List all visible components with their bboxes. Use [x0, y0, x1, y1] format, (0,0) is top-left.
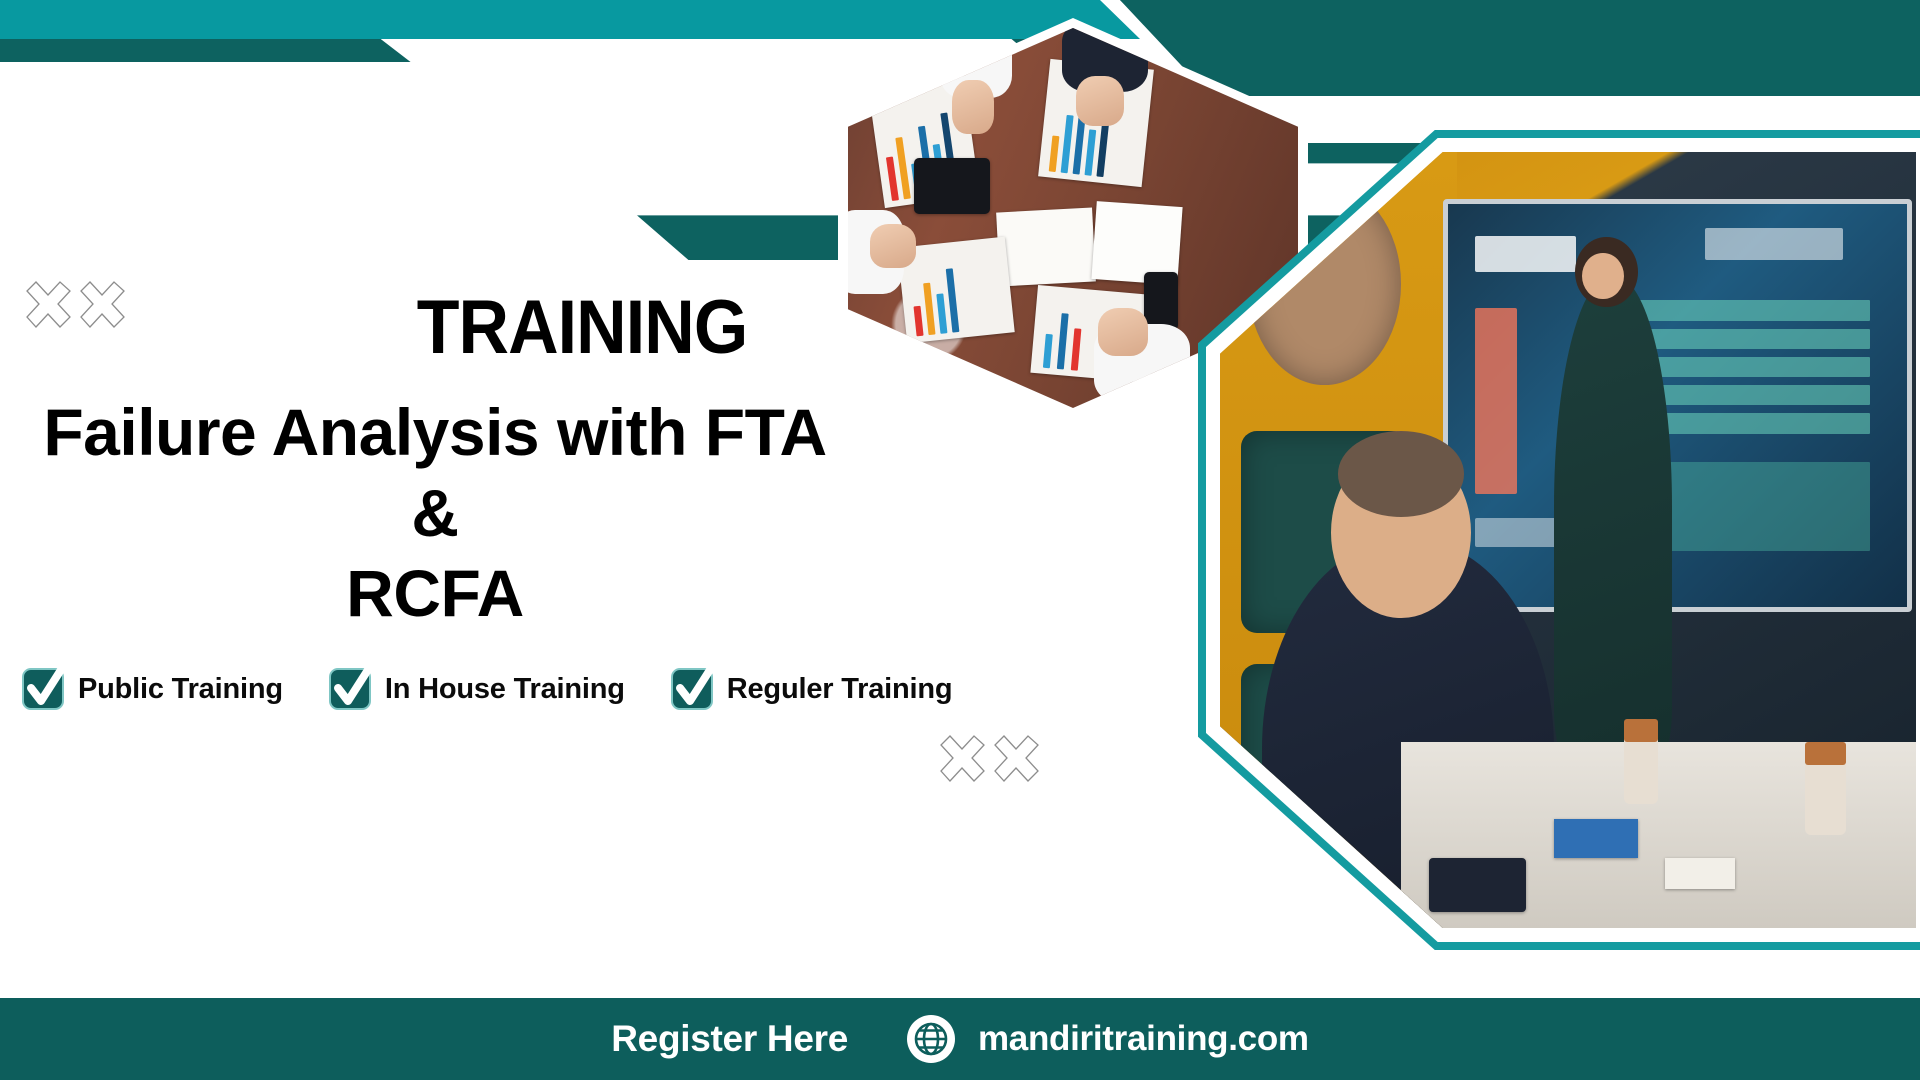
- globe-icon: [906, 1014, 956, 1064]
- training-type-label: Public Training: [78, 673, 283, 706]
- footer-bar: Register Here mandiritraining.com: [0, 998, 1920, 1080]
- classroom-photo: [1220, 152, 1916, 928]
- website-url: mandiritraining.com: [978, 1019, 1309, 1059]
- training-type-label: In House Training: [385, 673, 625, 706]
- page-kicker: TRAINING: [288, 290, 877, 366]
- checkbox-checked-icon[interactable]: [671, 668, 713, 710]
- register-here-cta[interactable]: Register Here: [611, 1018, 848, 1060]
- training-promo-poster: TRAINING Failure Analysis with FTA & RCF…: [0, 0, 1920, 1080]
- training-type-public[interactable]: Public Training: [22, 668, 283, 710]
- training-type-in-house[interactable]: In House Training: [329, 668, 625, 710]
- presentation-screen: [1443, 199, 1912, 613]
- x-marks-top: [24, 278, 134, 342]
- training-type-label: Reguler Training: [727, 673, 953, 706]
- training-type-reguler[interactable]: Reguler Training: [671, 668, 953, 710]
- checkbox-checked-icon[interactable]: [22, 668, 64, 710]
- page-title-line-2: RCFA: [346, 556, 524, 630]
- page-title-line-1: Failure Analysis with FTA &: [43, 395, 826, 550]
- classroom-presentation-hexagon: [1198, 130, 1920, 950]
- page-title: Failure Analysis with FTA & RCFA: [20, 392, 850, 634]
- website-link[interactable]: mandiritraining.com: [906, 1014, 1309, 1064]
- training-types-list: Public Training In House Training Regule…: [22, 668, 952, 710]
- checkbox-checked-icon[interactable]: [329, 668, 371, 710]
- x-marks-bottom: [938, 732, 1048, 796]
